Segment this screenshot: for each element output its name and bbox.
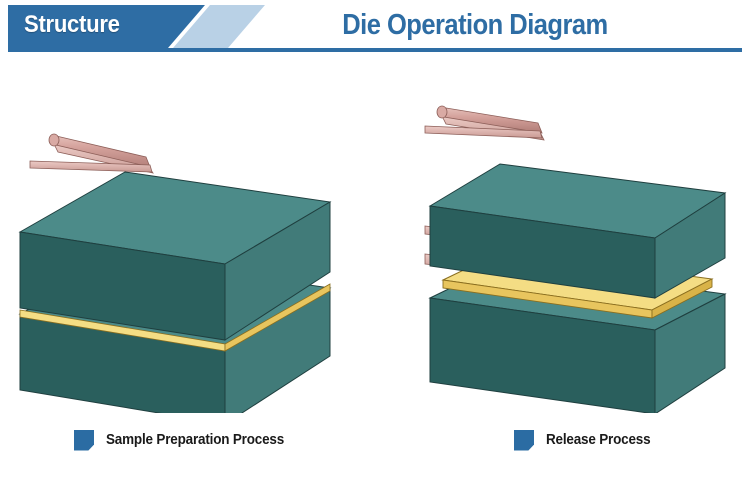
page-title: Die Operation Diagram [308, 5, 642, 45]
die-operation-diagram [0, 58, 750, 413]
legend-label: Release Process [546, 432, 650, 448]
diagram-graphic [0, 58, 750, 413]
legend-swatch-icon [514, 430, 534, 451]
header-rule [8, 48, 742, 52]
legend-item-release: Release Process [514, 428, 658, 452]
legend-swatch-icon [74, 430, 94, 451]
legend-label: Sample Preparation Process [106, 432, 284, 448]
page-header: Structure Die Operation Diagram [0, 0, 750, 58]
legend-item-sample-preparation: Sample Preparation Process [74, 428, 297, 452]
header-tag-label: Structure [24, 8, 162, 42]
sample-preparation-panel [20, 134, 330, 413]
release-panel [425, 106, 725, 413]
